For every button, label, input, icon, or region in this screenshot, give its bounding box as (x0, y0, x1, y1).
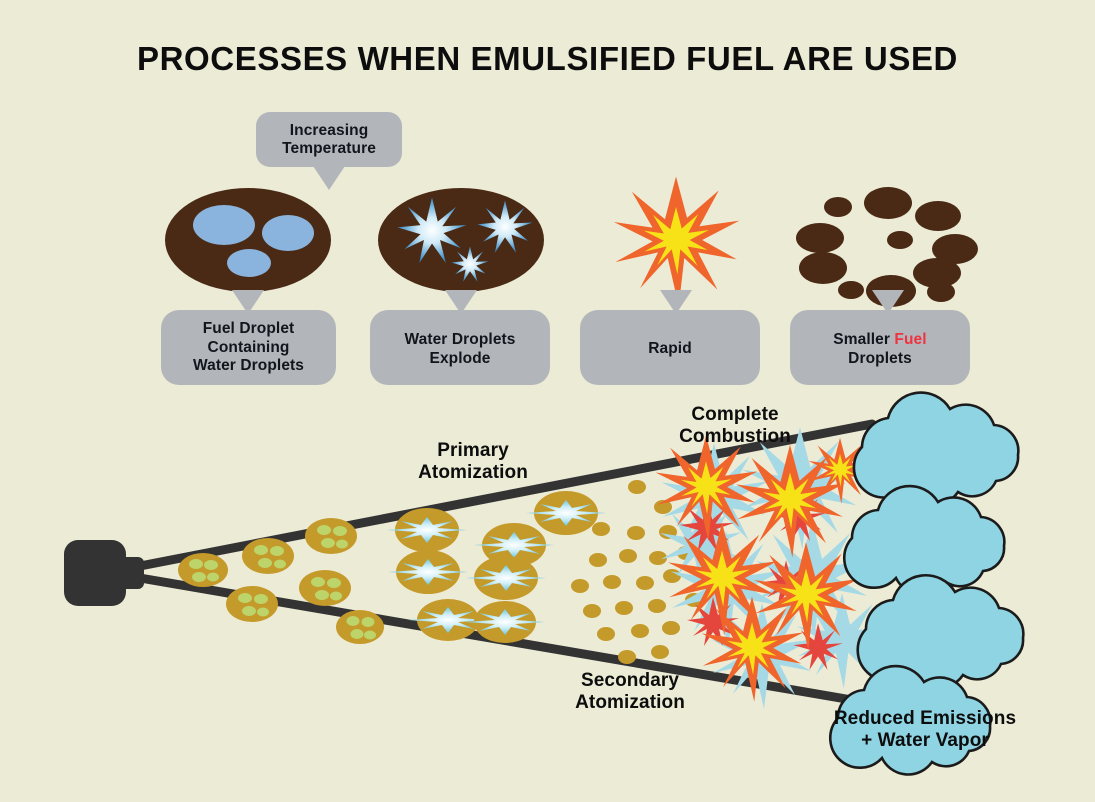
stage-4-label: Smaller Fuel Droplets (790, 331, 970, 368)
stage-2-line-1: Water Droplets (370, 331, 550, 350)
secondary-atomization-label: Secondary Atomization (522, 670, 738, 714)
stage-1-label: Fuel Droplet Containing Water Droplets (161, 320, 336, 376)
stage-2-label: Water Droplets Explode (370, 331, 550, 368)
stage-2-line-2: Explode (370, 350, 550, 369)
stage-3-label: Rapid (580, 340, 760, 359)
callout-line-1: Increasing (256, 122, 402, 140)
page-title: PROCESSES WHEN EMULSIFIED FUEL ARE USED (0, 40, 1095, 78)
primary-atomization-line-1: Primary (368, 440, 578, 462)
secondary-atomization-line-2: Atomization (522, 692, 738, 714)
stage-4-word-fuel: Fuel (894, 331, 926, 348)
stage-1-line-2: Containing (161, 339, 336, 358)
infographic-canvas: PROCESSES WHEN EMULSIFIED FUEL ARE USED … (0, 0, 1095, 802)
complete-combustion-line-1: Complete (620, 404, 850, 426)
reduced-emissions-line-2: + Water Vapor (790, 730, 1060, 752)
reduced-emissions-line-1: Reduced Emissions (790, 708, 1060, 730)
stage-1-illustration (165, 188, 331, 292)
stage-1-line-3: Water Droplets (161, 357, 336, 376)
increasing-temperature-label: Increasing Temperature (256, 122, 402, 159)
stage-4-line-2: Droplets (790, 350, 970, 369)
stage-4-line-1: Smaller Fuel (790, 331, 970, 350)
secondary-atomization-line-1: Secondary (522, 670, 738, 692)
complete-combustion-line-2: Combustion (620, 426, 850, 448)
reduced-emissions-label: Reduced Emissions + Water Vapor (790, 708, 1060, 752)
callout-line-2: Temperature (256, 140, 402, 158)
stage-4-word-smaller: Smaller (833, 331, 894, 348)
primary-atomization-line-2: Atomization (368, 462, 578, 484)
stage-2-illustration (378, 188, 544, 292)
stage-1-line-1: Fuel Droplet (161, 320, 336, 339)
complete-combustion-label: Complete Combustion (620, 404, 850, 448)
stage-3-line-1: Rapid (580, 340, 760, 359)
primary-atomization-label: Primary Atomization (368, 440, 578, 484)
